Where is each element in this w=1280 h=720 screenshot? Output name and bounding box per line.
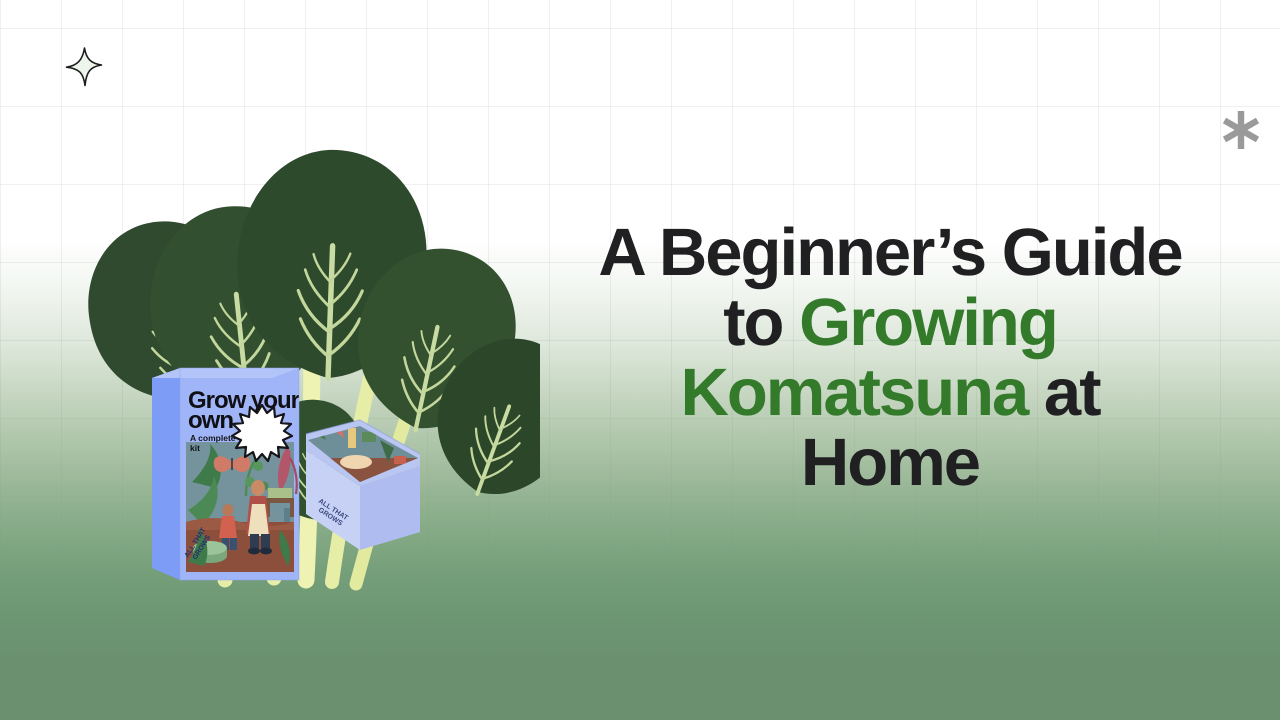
title-line-3-suffix: at xyxy=(1027,355,1099,430)
open-kit-box: ALL THAT GROWS xyxy=(300,416,430,550)
title-line-3-accent: Komatsuna xyxy=(680,355,1027,430)
plant-leaves xyxy=(67,147,540,524)
asterisk-icon xyxy=(1219,107,1261,151)
title-line-2-prefix: to xyxy=(723,285,799,360)
title-line-1: A Beginner’s Guide xyxy=(598,215,1181,290)
svg-text:A complete: A complete xyxy=(190,433,236,443)
komatsuna-illustration: ALL THAT GROWS xyxy=(60,110,540,620)
svg-text:kit: kit xyxy=(190,443,200,453)
slide-canvas: ALL THAT GROWS xyxy=(0,0,1280,720)
page-title: A Beginner’s Guide to Growing Komatsuna … xyxy=(560,218,1220,498)
svg-text:own: own xyxy=(188,407,233,434)
grow-your-own-kit-box: Grow your own A complete kit ALL THAT GR… xyxy=(152,368,300,580)
four-point-star-icon xyxy=(64,46,104,88)
title-line-4: Home xyxy=(801,425,979,500)
title-line-2-accent: Growing xyxy=(799,285,1057,360)
